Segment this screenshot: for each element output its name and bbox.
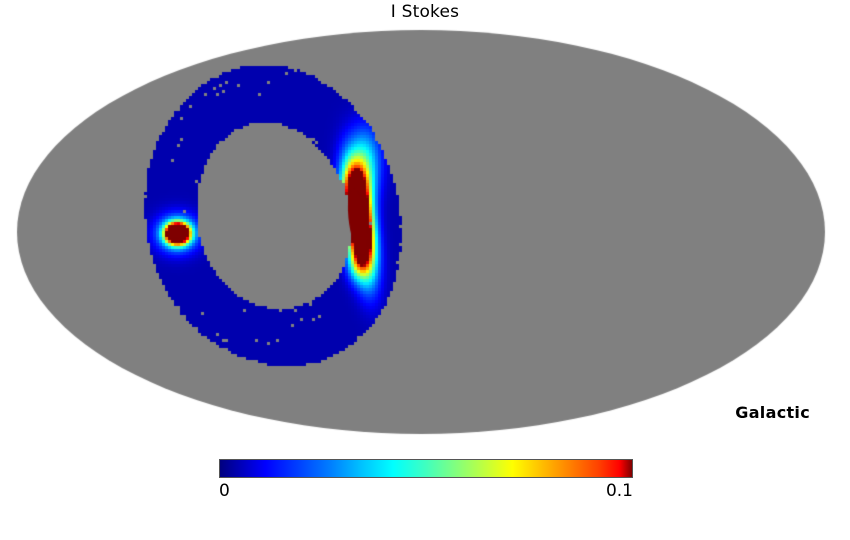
- colorbar-gradient: [219, 459, 633, 478]
- colorbar-max-label: 0.1: [606, 481, 633, 501]
- colorbar: 0 0.1: [219, 459, 633, 504]
- colorbar-min-label: 0: [219, 481, 230, 501]
- sky-map-figure: I Stokes Galactic 0 0.1: [0, 0, 850, 540]
- mollweide-sky-map: [0, 0, 850, 450]
- coordinate-system-label: Galactic: [735, 403, 810, 422]
- colorbar-tick-labels: 0 0.1: [219, 478, 633, 504]
